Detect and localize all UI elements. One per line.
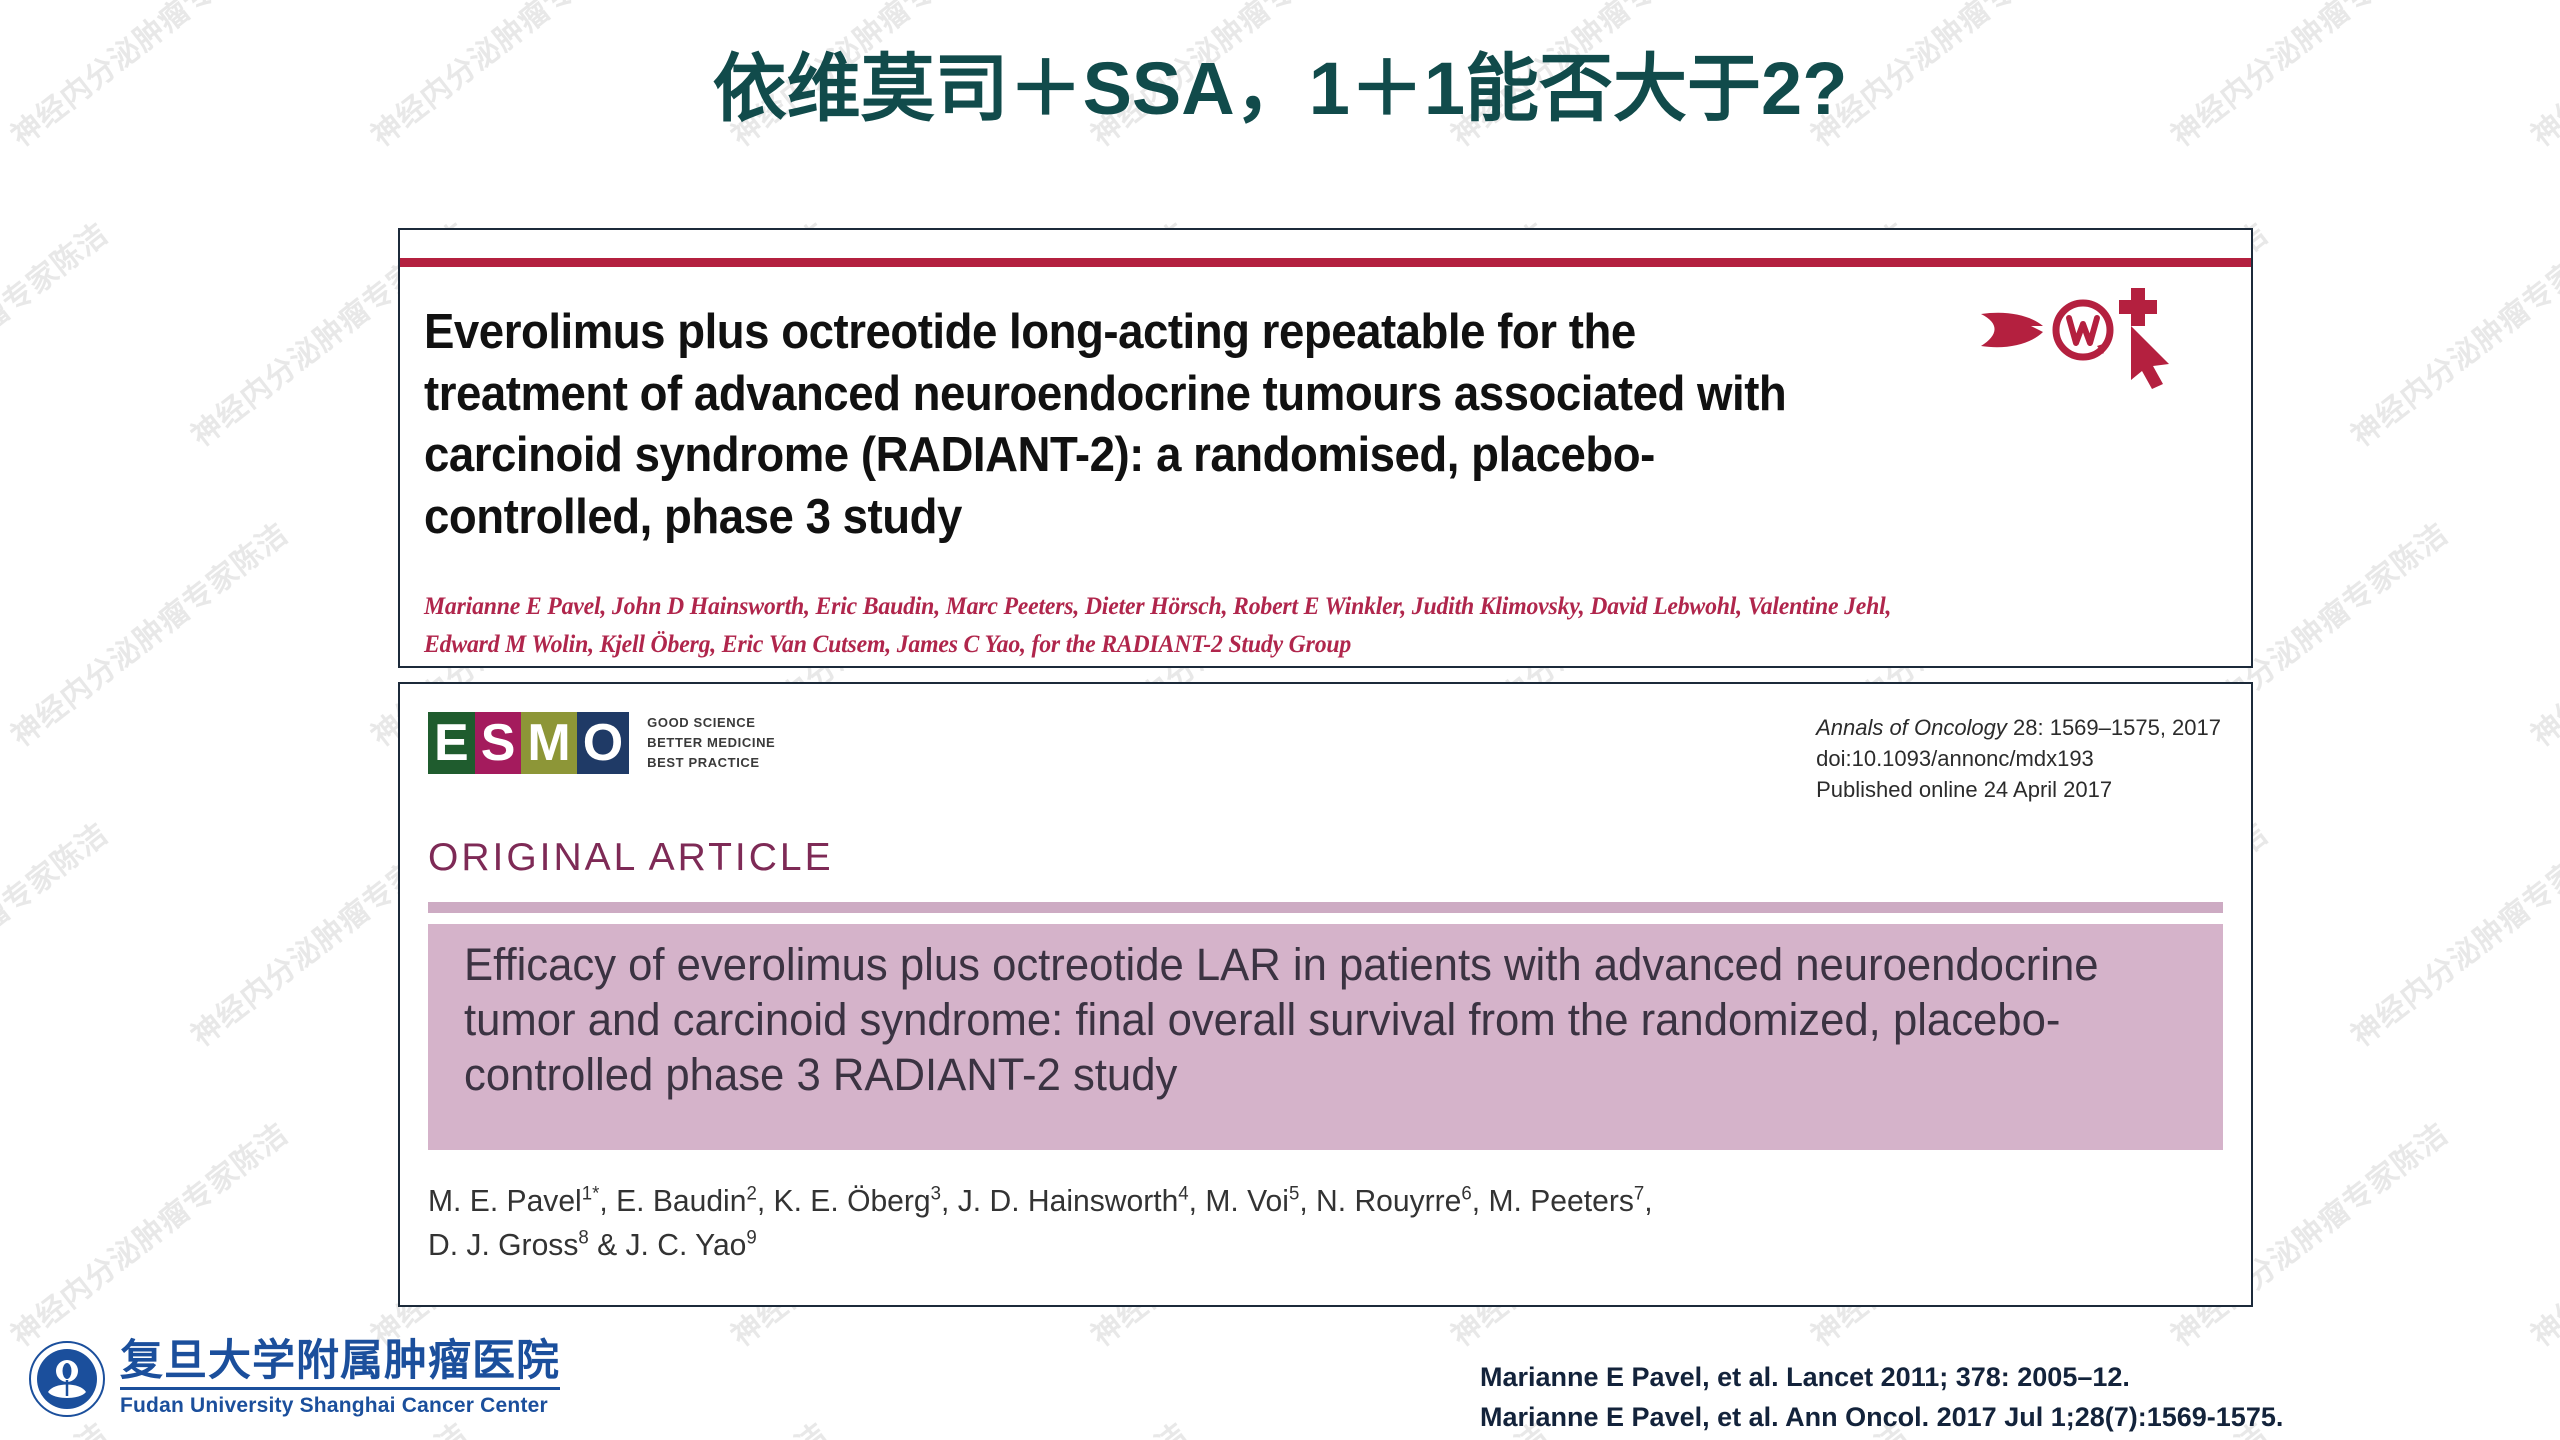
institution-names: 复旦大学附属肿瘤医院 Fudan University Shanghai Can… xyxy=(120,1340,560,1418)
watermark-text: 神经内分泌肿瘤专家陈洁 xyxy=(0,510,296,755)
institution-name-en: Fudan University Shanghai Cancer Center xyxy=(120,1391,560,1418)
esmo-tagline-line-2: BETTER MEDICINE xyxy=(647,733,775,753)
esmo-logo: E S M O GOOD SCIENCE BETTER MEDICINE BES… xyxy=(428,712,775,774)
watermark-text: 神经内分泌肿瘤专家陈洁 xyxy=(0,810,116,1055)
slide-canvas: 神经内分泌肿瘤专家陈洁神经内分泌肿瘤专家陈洁神经内分泌肿瘤专家陈洁神经内分泌肿瘤… xyxy=(0,0,2560,1440)
watermark-text: 神经内分泌肿瘤专家陈洁 xyxy=(2340,1410,2560,1440)
lancet-author-line-1: Marianne E Pavel, John D Hainsworth, Eri… xyxy=(424,588,2030,626)
esmo-article-type-label: ORIGINAL ARTICLE xyxy=(428,836,834,880)
watermark-text: 神经内分泌肿瘤专家陈洁 xyxy=(2520,510,2560,755)
page-title: 依维莫司＋SSA，1＋1能否大于2? xyxy=(0,52,2560,126)
lancet-logo xyxy=(1979,280,2199,390)
esmo-tagline-line-3: BEST PRACTICE xyxy=(647,753,775,773)
esmo-doi: doi:10.1093/annonc/mdx193 xyxy=(1816,743,2221,774)
watermark-text: 神经内分泌肿瘤专家陈洁 xyxy=(2340,810,2560,1055)
institution-logo: 复旦大学附属肿瘤医院 Fudan University Shanghai Can… xyxy=(28,1340,560,1418)
lancet-paper-title: Everolimus plus octreotide long-acting r… xyxy=(424,302,1847,549)
esmo-tagline: GOOD SCIENCE BETTER MEDICINE BEST PRACTI… xyxy=(647,713,775,773)
watermark-text: 神经内分泌肿瘤专家陈洁 xyxy=(0,210,116,455)
lancet-author-line-2: Edward M Wolin, Kjell Öberg, Eric Van Cu… xyxy=(424,626,2030,664)
esmo-paper-card: E S M O GOOD SCIENCE BETTER MEDICINE BES… xyxy=(398,682,2253,1307)
institution-name-cn: 复旦大学附属肿瘤医院 xyxy=(120,1340,560,1390)
esmo-letter-e: E xyxy=(428,712,475,774)
watermark-text: 神经内分泌肿瘤专家陈洁 xyxy=(2520,1110,2560,1355)
esmo-volume-pages: 28: 1569–1575, 2017 xyxy=(2007,715,2221,740)
esmo-paper-title: Efficacy of everolimus plus octreotide L… xyxy=(464,938,2152,1103)
watermark-text: 神经内分泌肿瘤专家陈洁 xyxy=(900,1410,1196,1440)
esmo-title-box: Efficacy of everolimus plus octreotide L… xyxy=(428,924,2223,1150)
reference-line-1: Marianne E Pavel, et al. Lancet 2011; 37… xyxy=(1480,1358,2283,1398)
lancet-author-byline: Marianne E Pavel, John D Hainsworth, Eri… xyxy=(424,588,2030,664)
esmo-tagline-line-1: GOOD SCIENCE xyxy=(647,713,775,733)
watermark-text: 神经内分泌肿瘤专家陈洁 xyxy=(2340,210,2560,455)
esmo-letter-o: O xyxy=(577,712,629,774)
esmo-letter-m: M xyxy=(521,712,576,774)
esmo-journal-citation: Annals of Oncology 28: 1569–1575, 2017 d… xyxy=(1816,712,2221,806)
watermark-text: 神经内分泌肿瘤专家陈洁 xyxy=(0,1110,296,1355)
lancet-paper-card: Everolimus plus octreotide long-acting r… xyxy=(398,228,2253,668)
esmo-journal-name: Annals of Oncology xyxy=(1816,715,2007,740)
footer-references: Marianne E Pavel, et al. Lancet 2011; 37… xyxy=(1480,1358,2283,1438)
esmo-citation-journal-line: Annals of Oncology 28: 1569–1575, 2017 xyxy=(1816,712,2221,743)
esmo-published-date: Published online 24 April 2017 xyxy=(1816,774,2221,805)
esmo-wordmark: E S M O xyxy=(428,712,629,774)
esmo-author-byline: M. E. Pavel1*, E. Baudin2, K. E. Öberg3,… xyxy=(428,1179,2135,1267)
lancet-accent-rule xyxy=(400,258,2251,267)
reference-line-2: Marianne E Pavel, et al. Ann Oncol. 2017… xyxy=(1480,1398,2283,1438)
esmo-letter-s: S xyxy=(475,712,522,774)
esmo-divider-rule xyxy=(428,902,2223,913)
watermark-text: 神经内分泌肿瘤专家陈洁 xyxy=(540,1410,836,1440)
fudan-seal-icon xyxy=(28,1340,106,1418)
